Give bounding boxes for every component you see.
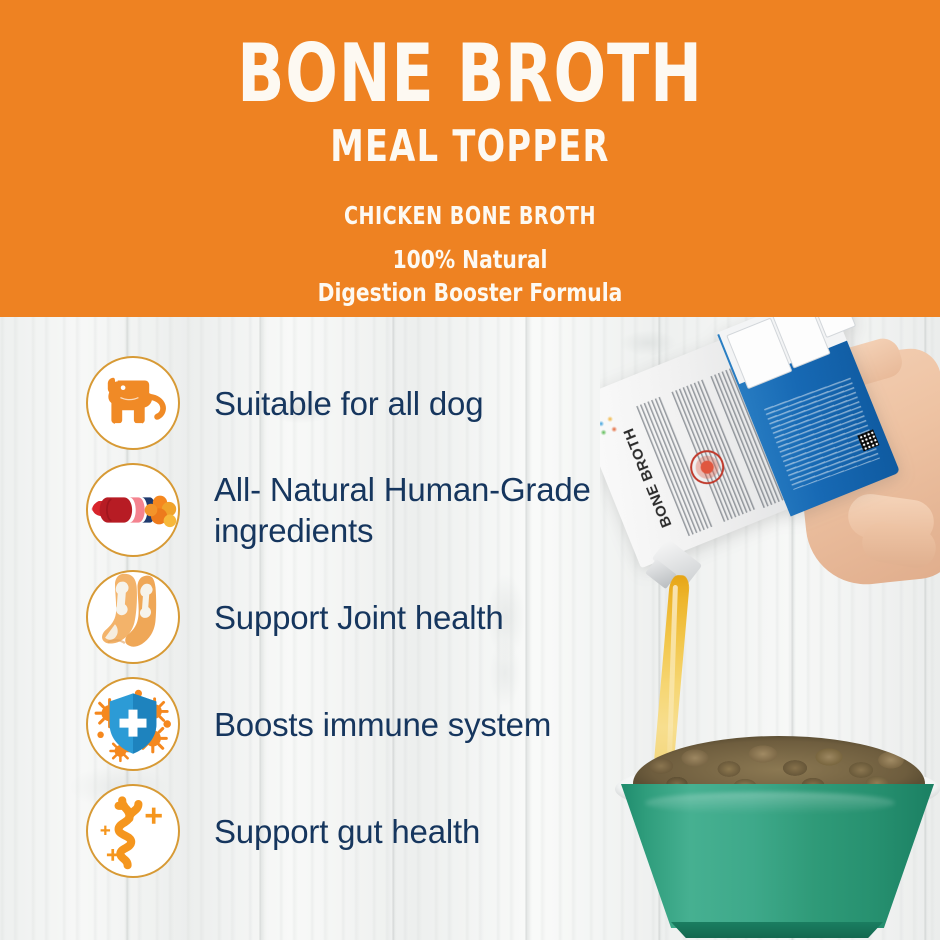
feature-label: Boosts immune system [214, 704, 551, 745]
header-banner: BONE BROTH MEAL TOPPER CHICKEN BONE BROT… [0, 0, 940, 317]
page-subtitle: MEAL TOPPER [71, 123, 870, 171]
claim-natural: 100% Natural [47, 243, 893, 276]
feature-item-joint-health: Support Joint health [86, 569, 646, 665]
claim-formula: Digestion Booster Formula [47, 276, 893, 309]
flavor-label: CHICKEN BONE BROTH [71, 202, 870, 230]
feature-label: Support Joint health [214, 597, 504, 638]
claims-block: 100% Natural Digestion Booster Formula [47, 243, 893, 309]
gut-intestine-icon [86, 784, 180, 878]
feature-item-natural-ingredients: All- Natural Human-Grade ingredients [86, 462, 646, 558]
immune-shield-virus-icon [86, 677, 180, 771]
dog-food-bowl [615, 736, 940, 940]
sitting-dog-icon [86, 356, 180, 450]
meat-skewer-icon [86, 463, 180, 557]
joint-bones-icon [86, 570, 180, 664]
feature-label: Support gut health [214, 811, 480, 852]
feature-item-immune-system: Boosts immune system [86, 676, 646, 772]
feature-label: All- Natural Human-Grade ingredients [214, 469, 646, 551]
feature-label: Suitable for all dog [214, 383, 483, 424]
bowl-base [671, 922, 883, 938]
bowl-body [621, 784, 934, 928]
page-title: BONE BROTH [66, 32, 874, 116]
product-infographic: BONE BROTH MEAL TOPPER CHICKEN BONE BROT… [0, 0, 940, 940]
feature-item-gut-health: Support gut health [86, 783, 646, 879]
feature-item-suitable-for-all-dog: Suitable for all dog [86, 355, 646, 451]
